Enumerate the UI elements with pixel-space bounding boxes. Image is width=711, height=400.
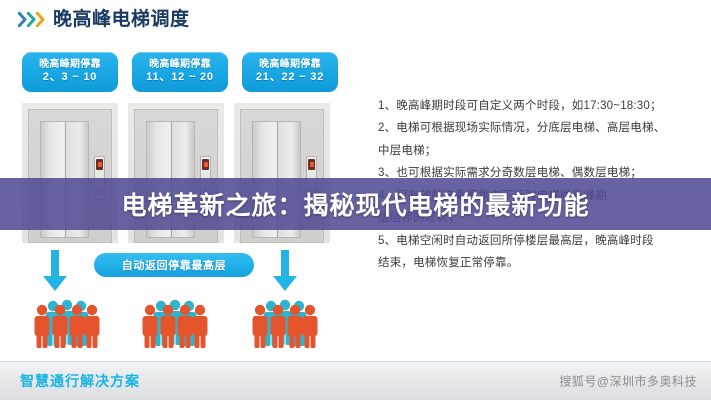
watermark-label: 搜狐号@深圳市多奥科技: [559, 373, 697, 390]
floor-button-title: 晚高峰期停靠: [259, 59, 321, 71]
note-line: 1、晚高峰期时段可自定义两个时段，如17:30~18:30；: [378, 95, 698, 117]
floor-button-high[interactable]: 晚高峰期停靠 21、22 ~ 32: [242, 52, 338, 92]
chevron-group-icon: [18, 12, 45, 27]
bottom-bar: 智慧通行解决方案 搜狐号@深圳市多奥科技: [0, 361, 711, 400]
auto-return-label: 自动返回停靠最高层: [122, 257, 226, 273]
floor-button-range: 11、12 ~ 20: [146, 71, 214, 85]
overlay-title-text: 电梯革新之旅：揭秘现代电梯的最新功能: [121, 186, 589, 222]
elevator-display-icon: [202, 159, 209, 170]
page-header: 晚高峰电梯调度: [18, 10, 190, 29]
auto-return-pill[interactable]: 自动返回停靠最高层: [94, 253, 254, 277]
floor-button-low[interactable]: 晚高峰期停靠 2、3 ~ 10: [22, 52, 118, 92]
bottom-bar-label: 智慧通行解决方案: [20, 371, 140, 391]
page-title: 晚高峰电梯调度: [53, 10, 190, 29]
note-line: 结束，电梯恢复正常停靠。: [378, 252, 698, 274]
arrow-down-icon-left: [42, 250, 68, 292]
arrow-down-icon-right: [272, 250, 298, 292]
chevron-right-icon-1: [18, 12, 27, 27]
people-group-icon-1: [32, 298, 108, 350]
floor-button-range: 2、3 ~ 10: [43, 71, 97, 85]
note-line: 中层电梯；: [378, 140, 698, 162]
flow-row: 自动返回停靠最高层: [22, 250, 342, 294]
people-group-icon-2: [140, 298, 216, 350]
floor-button-group: 晚高峰期停靠 2、3 ~ 10 晚高峰期停靠 11、12 ~ 20 晚高峰期停靠…: [22, 52, 338, 92]
floor-button-title: 晚高峰期停靠: [39, 59, 101, 71]
chevron-right-icon-3: [36, 12, 45, 27]
floor-button-mid[interactable]: 晚高峰期停靠 11、12 ~ 20: [132, 52, 228, 92]
note-line: 2、电梯可根据现场实际情况，分底层电梯、高层电梯、: [378, 117, 698, 139]
slide-root: 晚高峰电梯调度 晚高峰期停靠 2、3 ~ 10 晚高峰期停靠 11、12 ~ 2…: [0, 0, 711, 400]
elevator-display-icon: [96, 159, 103, 170]
chevron-right-icon-2: [27, 12, 36, 27]
elevator-display-icon: [308, 159, 315, 170]
people-group-icon-3: [250, 298, 326, 350]
overlay-title-band: 电梯革新之旅：揭秘现代电梯的最新功能: [0, 178, 711, 230]
floor-button-range: 21、22 ~ 32: [256, 71, 324, 85]
floor-button-title: 晚高峰期停靠: [149, 59, 211, 71]
people-row: [22, 298, 352, 350]
note-line: 5、电梯空闲时自动返回所停楼层最高层，晚高峰时段: [378, 230, 698, 252]
